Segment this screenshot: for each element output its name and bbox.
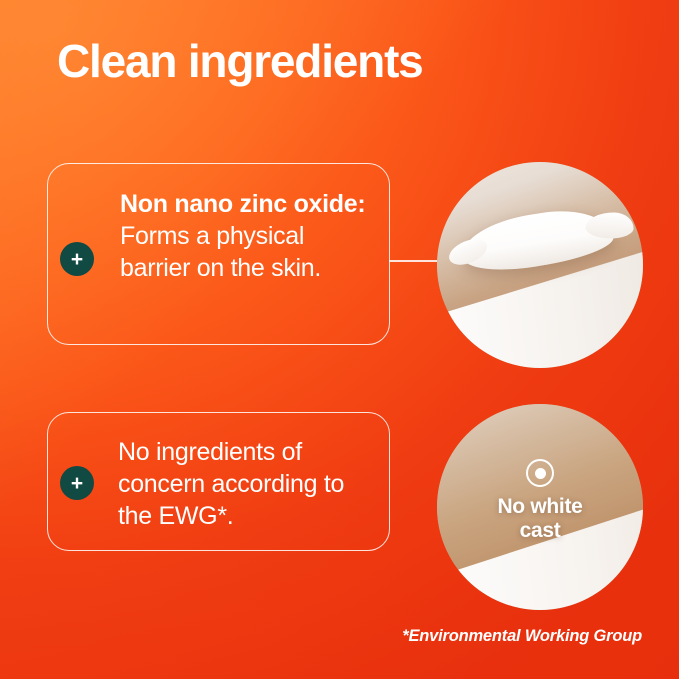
feature-card-2-text: No ingredients of concern according to t…: [118, 436, 380, 532]
feature-card-1-lead: Non nano zinc oxide:: [120, 190, 365, 218]
photo-no-white-cast: No white cast: [437, 404, 643, 610]
no-white-cast-line-1: No white: [437, 495, 643, 519]
feature-card-2-body: No ingredients of concern according to t…: [118, 438, 344, 530]
photo-cream-swatch: [437, 162, 643, 368]
plus-badge-icon-1: +: [60, 242, 94, 276]
feature-card-1-body: Forms a physical barrier on the skin.: [120, 222, 321, 282]
plus-badge-icon-2: +: [60, 466, 94, 500]
feature-card-1-text: Non nano zinc oxide: Forms a physical ba…: [120, 188, 376, 284]
footnote: *Environmental Working Group: [402, 627, 642, 646]
target-circle-icon: [526, 459, 554, 487]
no-white-cast-caption: No white cast: [437, 459, 643, 542]
no-white-cast-line-2: cast: [437, 519, 643, 543]
page-title: Clean ingredients: [57, 36, 423, 87]
promo-graphic: Clean ingredients + Non nano zinc oxide:…: [0, 0, 679, 679]
